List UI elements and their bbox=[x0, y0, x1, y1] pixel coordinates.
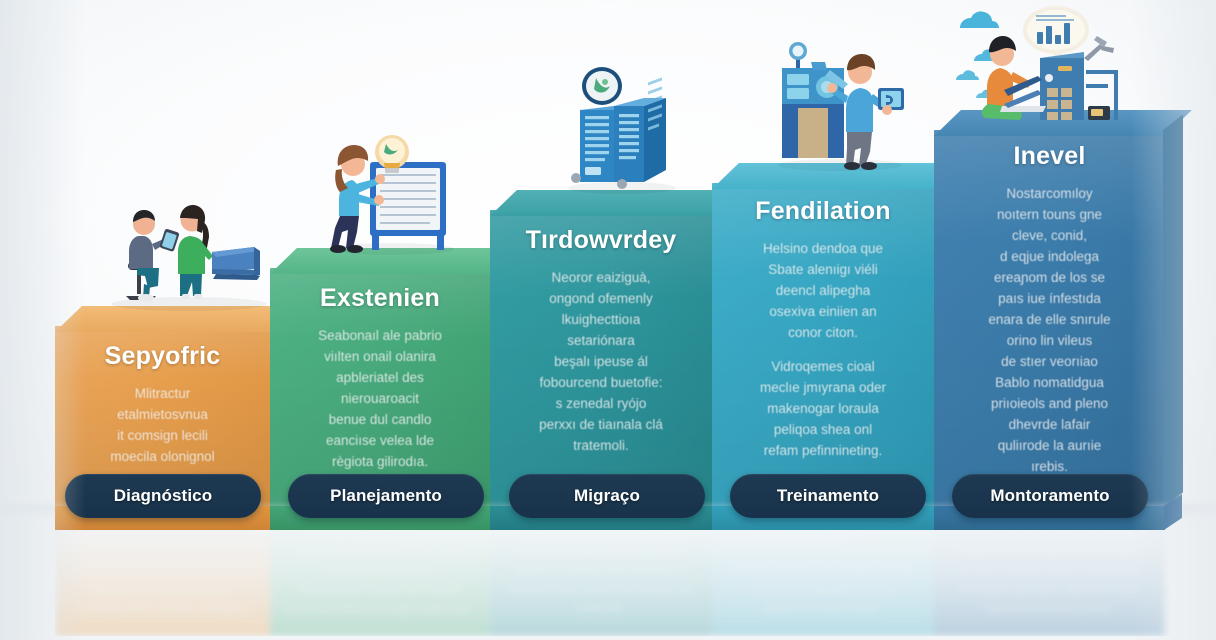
step-content-1: Sepyofric Mlitractur etalmietosvnua it c… bbox=[55, 342, 270, 467]
reflection-step-5: Nostarcomıloy noıtern touns gne cleve, c… bbox=[934, 514, 1165, 636]
step-body-2: Seabonaıl ale pabrio viılten onail olani… bbox=[284, 325, 476, 472]
reflection-text-2: Seabonaıl ale pabrio viılten onail olani… bbox=[270, 542, 490, 618]
reflection-step-1: Mlitractur etalmietosvnua it comsign lec… bbox=[55, 514, 270, 636]
reflection-text-4: Helsino dendoa que Sbate alenıigı viéli … bbox=[712, 561, 934, 618]
step-heading-3: Tırdowvrdey bbox=[504, 226, 698, 255]
reflection-text-1: Mlitractur etalmietosvnua it comsign lec… bbox=[55, 580, 270, 618]
step-body-paragraph: Helsino dendoa que Sbate alenıigı viéli … bbox=[726, 238, 920, 343]
step-pill-4[interactable]: Treinamento bbox=[730, 474, 926, 518]
step-body-paragraph: Nostarcomıloy noıtern touns gne cleve, c… bbox=[948, 183, 1151, 477]
step-heading-2: Exstenien bbox=[284, 284, 476, 313]
step-content-4: Fendilation Helsino dendoa que Sbate ale… bbox=[712, 197, 934, 461]
reflection-step-4: Helsino dendoa que Sbate alenıigı viéli … bbox=[712, 514, 934, 636]
step-block-5[interactable]: Inevel Nostarcomıloy noıtern touns gne c… bbox=[934, 130, 1165, 508]
step-pill-3[interactable]: Migraçо bbox=[509, 474, 705, 518]
step-pill-label-1: Diagnóstico bbox=[114, 486, 212, 506]
step-body-5: Nostarcomıloy noıtern touns gne cleve, c… bbox=[948, 183, 1151, 477]
reflection-text-3: Neoror eaiziguà, ongond ofemenly lkuighe… bbox=[490, 523, 712, 618]
reflection-step-2: Seabonaıl ale pabrio viılten onail olani… bbox=[270, 514, 490, 636]
reflection-step-3: Neoror eaiziguà, ongond ofemenly lkuighe… bbox=[490, 514, 712, 636]
step-top-1 bbox=[55, 306, 270, 332]
infographic-canvas: Mlitractur etalmietosvnua it comsign lec… bbox=[0, 0, 1216, 640]
step-heading-1: Sepyofric bbox=[69, 342, 256, 371]
step-pill-1[interactable]: Diagnóstico bbox=[65, 474, 261, 518]
step-content-5: Inevel Nostarcomıloy noıtern touns gne c… bbox=[934, 142, 1165, 477]
step-body-paragraph: Mlitractur etalmietosvnua it comsign lec… bbox=[69, 383, 256, 467]
step-pill-5[interactable]: Montoramento bbox=[952, 474, 1148, 518]
step-pill-label-3: Migraçо bbox=[574, 486, 640, 506]
step-top-4 bbox=[712, 163, 934, 189]
step-side-5 bbox=[1163, 114, 1183, 508]
step-body-paragraph: Neoror eaiziguà, ongond ofemenly lkuighe… bbox=[504, 267, 698, 456]
step-block-4[interactable]: Fendilation Helsino dendoa que Sbate ale… bbox=[712, 183, 934, 508]
step-pill-label-2: Planejamento bbox=[330, 486, 442, 506]
step-body-3: Neoror eaiziguà, ongond ofemenly lkuighe… bbox=[504, 267, 698, 456]
cloud-icon bbox=[956, 11, 1002, 98]
step-content-3: Tırdowvrdey Neoror eaiziguà, ongond ofem… bbox=[490, 226, 712, 456]
step-block-2[interactable]: Exstenien Seabonaıl ale pabrio viılten o… bbox=[270, 268, 490, 508]
step-top-5 bbox=[934, 110, 1165, 136]
step-body-4: Helsino dendoa que Sbate alenıigı viéli … bbox=[726, 238, 920, 461]
step-pill-2[interactable]: Planejamento bbox=[288, 474, 484, 518]
step-block-3[interactable]: Tırdowvrdey Neoror eaiziguà, ongond ofem… bbox=[490, 210, 712, 508]
step-pill-label-4: Treinamento bbox=[777, 486, 879, 506]
step-body-paragraph: Seabonaıl ale pabrio viılten onail olani… bbox=[284, 325, 476, 472]
step-pill-label-5: Montoramento bbox=[990, 486, 1109, 506]
step-top-2 bbox=[270, 248, 490, 274]
step-content-2: Exstenien Seabonaıl ale pabrio viılten o… bbox=[270, 284, 490, 472]
step-top-3 bbox=[490, 190, 712, 216]
step-body-paragraph: Vidroqemes cioal meclıe jmıyrana oder ma… bbox=[726, 356, 920, 461]
step-heading-4: Fendilation bbox=[726, 197, 920, 226]
step-body-1: Mlitractur etalmietosvnua it comsign lec… bbox=[69, 383, 256, 467]
step-heading-5: Inevel bbox=[948, 142, 1151, 171]
staircase: Sepyofric Mlitractur etalmietosvnua it c… bbox=[55, 88, 1165, 508]
